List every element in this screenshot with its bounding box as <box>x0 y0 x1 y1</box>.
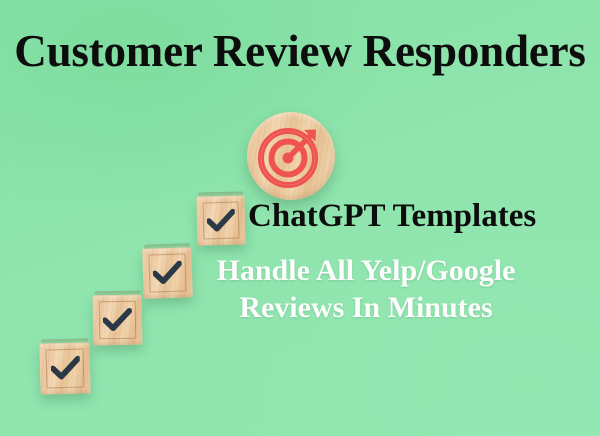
checkmark-icon <box>153 260 182 287</box>
subtitle-line-1: Handle All Yelp/Google <box>186 252 546 289</box>
subtitle-block: Handle All Yelp/Google Reviews In Minute… <box>186 252 546 326</box>
target-bullseye-arrow-icon <box>257 121 325 189</box>
checkmark-icon <box>103 307 132 333</box>
checkbox-tile-4 <box>39 342 90 394</box>
target-disc-graphic <box>247 112 335 200</box>
page-title: Customer Review Responders <box>0 24 600 78</box>
checkbox-tile-1 <box>196 195 245 245</box>
headline-text: ChatGPT Templates <box>248 197 536 235</box>
poster-canvas: Customer Review Responders <box>0 0 600 436</box>
subtitle-line-2: Reviews In Minutes <box>186 289 546 326</box>
checkbox-tile-3 <box>93 295 143 346</box>
checkmark-icon <box>50 355 80 382</box>
checkmark-icon <box>207 207 235 233</box>
